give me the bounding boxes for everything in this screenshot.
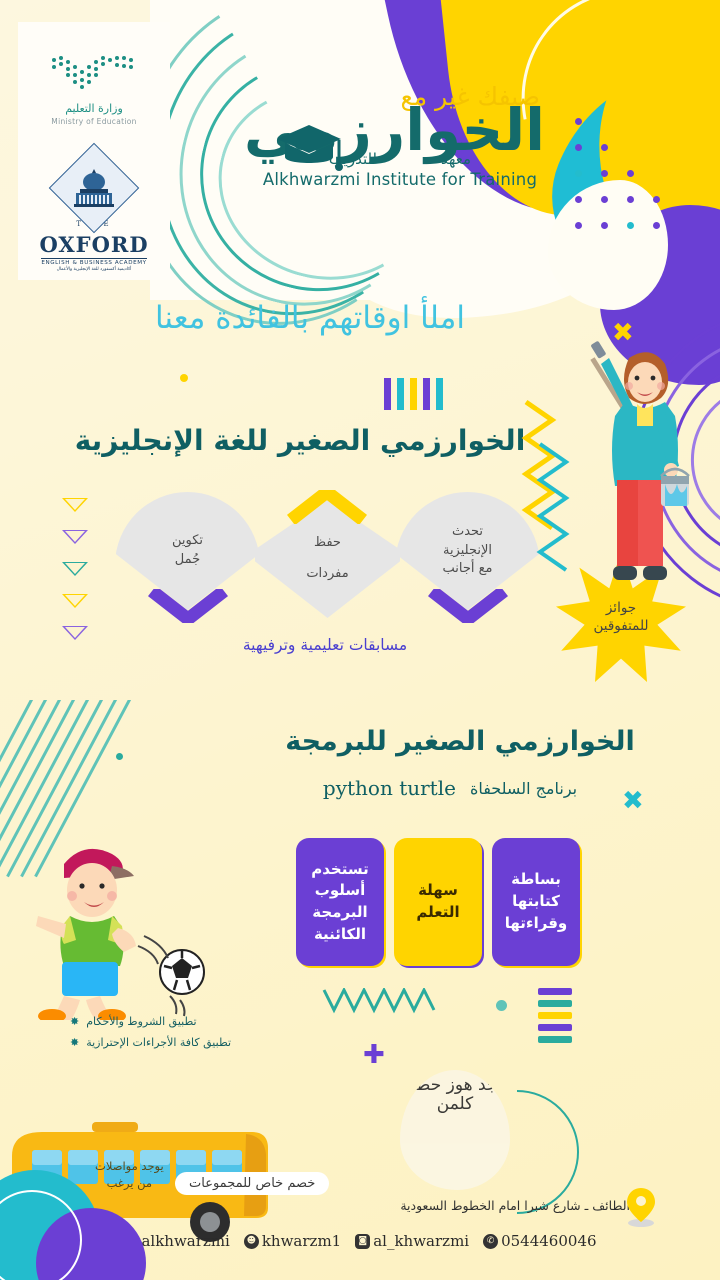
snapchat-icon[interactable]: ☻: [244, 1234, 259, 1249]
terms-list: تطبيق الشروط والأحكام ✸ تطبيق كافة الأجر…: [70, 1012, 300, 1054]
group-discount-badge: خصم خاص للمجموعات: [175, 1172, 329, 1195]
poster-canvas: وزارة التعليم Ministry of Education: [0, 0, 720, 1280]
programming-subtitle: برنامج السلحفاة python turtle: [250, 776, 650, 800]
feature-text-vocabulary: حفظ مفردات: [306, 534, 348, 584]
feature-card-easy-learning: سهلة التعلم: [394, 838, 482, 966]
feature-text-speak: تحدث الإنجليزية مع أجانب: [442, 523, 492, 580]
programming-course-title: الخوارزمي الصغير للبرمجة: [250, 726, 670, 757]
feature-diamond-vocabulary: حفظ مفردات: [255, 500, 400, 618]
triangle-4: [62, 594, 88, 619]
ministry-name-en: Ministry of Education: [51, 117, 136, 126]
brand-logo: الخوارزمي معهد للتدريب Alkhwarzmi Instit…: [255, 105, 545, 189]
graduation-cap-icon: [273, 123, 345, 175]
oxford-subtitle-ar: أكاديمية أكسفورد للغة الإنجليزية والأعما…: [57, 267, 132, 272]
english-course-title: الخوارزمي الصغير للغة الإنجليزية: [40, 424, 560, 457]
yellow-chevron-icon: [287, 490, 367, 524]
capitol-dome-icon: [71, 168, 117, 208]
running-boy-illustration: [30, 820, 220, 1020]
main-headline: املأ اوقاتهم بالفائدة معنا: [0, 300, 620, 336]
terms-item: تطبيق كافة الأجراءات الإحترازية ✸: [70, 1033, 300, 1054]
bus-transport-label: يوجد مواصلات من يرغب: [95, 1158, 164, 1193]
english-features-row: تحدث الإنجليزية مع أجانب حفظ مفردات تكوي…: [110, 492, 540, 622]
feature-text-sentences: تكوين جُمل: [172, 532, 203, 570]
feature-diamond-speak: تحدث الإنجليزية مع أجانب: [395, 492, 540, 610]
partner-logos-card: وزارة التعليم Ministry of Education: [18, 22, 170, 280]
triangle-5: [62, 626, 88, 651]
mini-color-bars: [538, 988, 572, 1043]
purple-chevron-icon: [428, 589, 508, 623]
teal-zigzag-wave: [322, 988, 442, 1014]
phone-number[interactable]: 0544460046: [501, 1232, 596, 1250]
location-pin-icon: [624, 1186, 658, 1228]
painter-boy-illustration: [585, 330, 695, 620]
social-item-snapchat[interactable]: ☻ khwarzm1: [244, 1232, 341, 1250]
dot-grid-decoration: [575, 118, 650, 248]
color-bars-decoration: [384, 378, 443, 410]
terms-text-2: تطبيق كافة الأجراءات الإحترازية: [86, 1033, 231, 1054]
twitter-handle[interactable]: alkhwarzmi: [141, 1232, 229, 1250]
triangle-1: [62, 498, 88, 523]
oxford-academy-logo: T H E OXFORD ENGLISH & BUSINESS ACADEMY …: [39, 156, 148, 272]
asterisk-icon: ✸: [70, 1033, 79, 1054]
programming-subtitle-ar: برنامج السلحفاة: [470, 779, 577, 798]
feature-diamond-sentences: تكوين جُمل: [115, 492, 260, 610]
feature-card-oop: تستخدم أسلوب البرمجة الكائنية: [296, 838, 384, 966]
purple-plus-decoration: ✚: [363, 1040, 385, 1070]
oxford-title: OXFORD: [39, 232, 148, 257]
terms-text-1: تطبيق الشروط والأحكام: [86, 1012, 196, 1033]
instagram-handle[interactable]: al_khwarzmi: [373, 1232, 469, 1250]
instagram-icon[interactable]: ◙: [355, 1234, 370, 1249]
terms-item: تطبيق الشروط والأحكام ✸: [70, 1012, 300, 1033]
asterisk-icon: ✸: [70, 1012, 79, 1033]
programming-subtitle-en: python turtle: [323, 776, 456, 800]
feature-card-simplicity: بساطة كتابتها وقراءتها: [492, 838, 580, 966]
competitions-text: مسابقات تعليمية وترفيهية: [110, 636, 540, 654]
triangle-3: [62, 562, 88, 587]
snapchat-handle[interactable]: khwarzm1: [262, 1232, 341, 1250]
oxford-diamond-icon: [49, 143, 140, 234]
teal-dot-decoration-2: [116, 753, 123, 760]
phone-icon[interactable]: ✆: [483, 1234, 498, 1249]
teal-dot-decoration: [496, 1000, 507, 1011]
social-item-instagram[interactable]: ◙ al_khwarzmi: [355, 1232, 469, 1250]
oxford-subtitle: ENGLISH & BUSINESS ACADEMY: [41, 258, 146, 266]
triangle-2: [62, 530, 88, 555]
triangle-decorations: [62, 498, 88, 651]
purple-chevron-icon-2: [148, 589, 228, 623]
programming-feature-cards: بساطة كتابتها وقراءتها سهلة التعلم تستخد…: [296, 838, 580, 966]
social-item-phone[interactable]: ✆ 0544460046: [483, 1232, 596, 1250]
arabic-calligraphy-decoration: أبجد هوز حطي كلمن: [400, 1070, 510, 1190]
yellow-dot-decoration: [180, 374, 188, 382]
address-text: الطائف ـ شارع شبرا امام الخطوط السعودية: [330, 1198, 630, 1213]
